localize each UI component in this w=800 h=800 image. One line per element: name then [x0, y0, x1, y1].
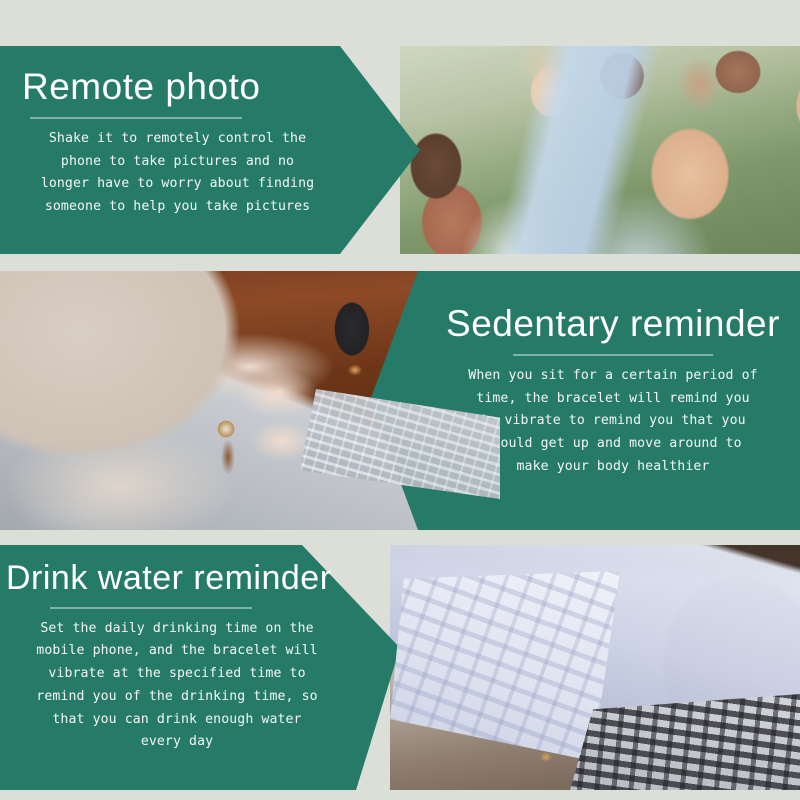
- panel-3-description-line: vibrate at the specified time to: [4, 663, 350, 686]
- panel-3-description: Set the daily drinking time on the mobil…: [4, 618, 350, 754]
- feature-poster: Remote photo Shake it to remotely contro…: [0, 0, 800, 800]
- feature-panel-remote-photo: Remote photo Shake it to remotely contro…: [0, 46, 800, 254]
- feature-panel-drink-water-reminder: Drink water reminder Set the daily drink…: [0, 545, 800, 790]
- panel-1-title: Remote photo: [18, 68, 337, 107]
- group-selfie-photo: [400, 46, 800, 254]
- panel-2-title: Sedentary reminder: [432, 305, 794, 344]
- panel-3-title: Drink water reminder: [4, 561, 350, 597]
- panel-1-description-line: Shake it to remotely control the: [18, 128, 337, 151]
- panel-3-description-line: that you can drink enough water: [4, 709, 350, 732]
- feature-panel-sedentary-reminder: Sedentary reminder When you sit for a ce…: [0, 271, 800, 530]
- panel-3-description-line: every day: [4, 731, 350, 754]
- group-selfie-photo-image: [400, 46, 800, 254]
- panel-3-divider: [50, 607, 252, 609]
- panel-3-description-line: mobile phone, and the bracelet will: [4, 640, 350, 663]
- panel-1-text-block: Remote photo Shake it to remotely contro…: [0, 46, 345, 254]
- panel-1-description-line: someone to help you take pictures: [18, 196, 337, 219]
- panel-3-text-block: Drink water reminder Set the daily drink…: [0, 545, 360, 790]
- panel-1-divider: [30, 117, 242, 119]
- woman-coffee-mug-laptop-photo: [390, 545, 800, 790]
- panel-2-description-line: time, the bracelet will remind you: [432, 388, 794, 411]
- panel-2-divider: [513, 354, 713, 356]
- panel-3-description-line: remind you of the drinking time, so: [4, 686, 350, 709]
- panel-2-description-line: When you sit for a certain period of: [432, 365, 794, 388]
- panel-1-description-line: longer have to worry about finding: [18, 173, 337, 196]
- panel-3-description-line: Set the daily drinking time on the: [4, 618, 350, 641]
- panel-1-description: Shake it to remotely control the phone t…: [18, 128, 337, 219]
- panel-1-description-line: phone to take pictures and no: [18, 151, 337, 174]
